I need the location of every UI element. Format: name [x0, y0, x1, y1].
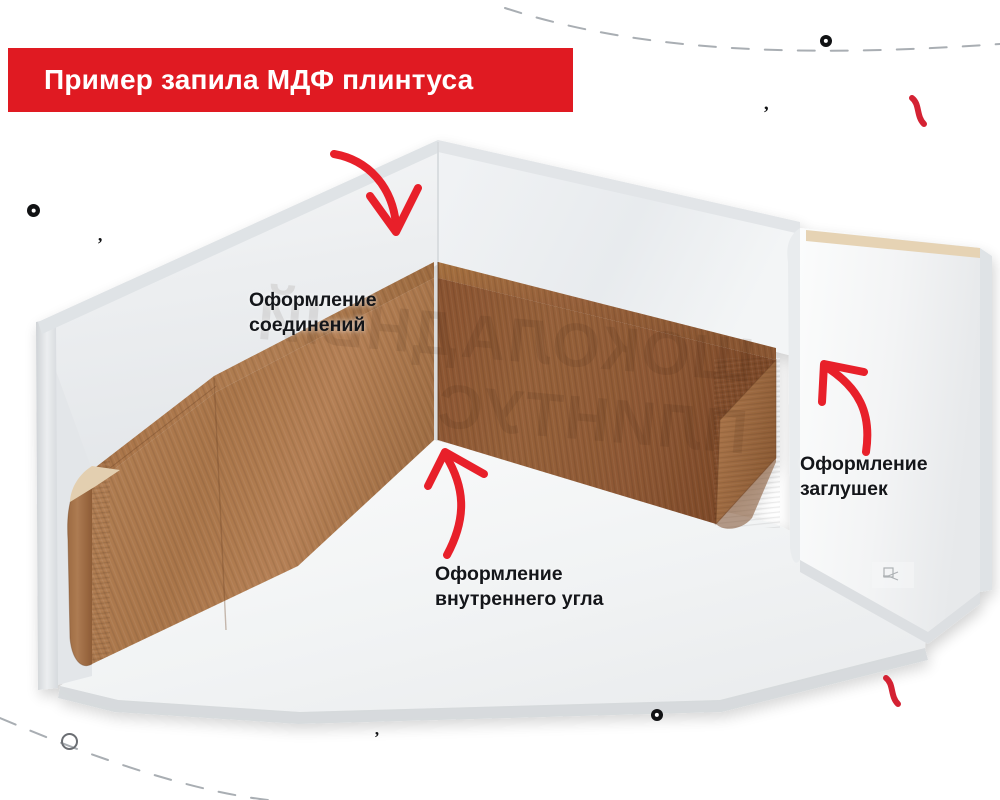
illustration-page: ШОКОЛАДНЫЙ ПЛИНТУС Пример запила МДФ пли… [0, 0, 1000, 800]
annotation-joints-label: Оформление соединений [249, 288, 377, 338]
decorative-squiggle-top-right [912, 98, 924, 124]
end-cap-right-edge [980, 248, 992, 592]
decorative-squiggle-bottom-right [886, 678, 898, 704]
decorative-comma-top-right: ’ [763, 104, 769, 123]
skirting-board-illustration: ШОКОЛАДНЫЙ ПЛИНТУС [0, 0, 1000, 800]
floor-sticker [872, 562, 914, 588]
decorative-dot-bottom [651, 709, 663, 721]
decorative-dot-top-right [820, 35, 832, 47]
decorative-dot-top-left [27, 204, 40, 217]
annotation-end-caps-label: Оформление заглушек [800, 452, 928, 502]
decorative-comma-top-left: ’ [97, 235, 103, 253]
decorative-ring-bottom-left [61, 733, 78, 750]
decorative-comma-bottom: ’ [374, 729, 380, 746]
wall-left-edge [36, 318, 58, 690]
annotation-inner-corner-label: Оформление внутреннего угла [435, 562, 603, 612]
end-cap-left-edge [787, 228, 800, 563]
title-banner-text: Пример запила МДФ плинтуса [44, 64, 473, 96]
title-banner: Пример запила МДФ плинтуса [8, 48, 573, 112]
